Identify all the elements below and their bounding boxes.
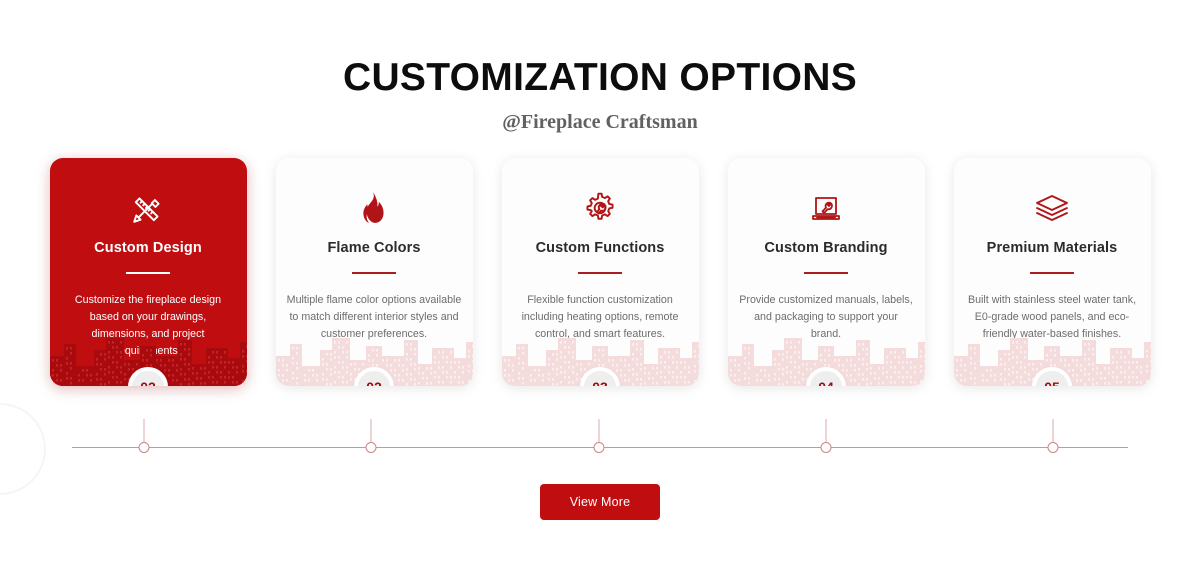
card-title: Premium Materials (987, 240, 1118, 256)
cta-container: View More (0, 484, 1200, 520)
card-list: Custom DesignCustomize the fireplace des… (0, 158, 1200, 386)
card-number-badge: 05 (1032, 367, 1072, 386)
card-divider (578, 272, 622, 274)
card-title: Custom Functions (536, 240, 665, 256)
card-number-badge: 02 (128, 367, 168, 386)
card-title: Custom Branding (764, 240, 887, 256)
timeline (0, 447, 1200, 449)
card-description: Customize the fireplace design based on … (60, 292, 236, 360)
card-description: Built with stainless steel water tank, E… (964, 292, 1140, 343)
section-header: CUSTOMIZATION OPTIONS @Fireplace Craftsm… (0, 0, 1200, 134)
card-divider (352, 272, 396, 274)
customization-options-section: CUSTOMIZATION OPTIONS @Fireplace Craftsm… (0, 0, 1200, 562)
card-divider (804, 272, 848, 274)
flame-icon (359, 188, 389, 228)
card-description: Multiple flame color options available t… (286, 292, 462, 343)
feature-card[interactable]: Custom DesignCustomize the fireplace des… (50, 158, 247, 386)
card-title: Custom Design (94, 240, 202, 256)
feature-card[interactable]: Premium MaterialsBuilt with stainless st… (954, 158, 1151, 386)
card-title: Flame Colors (327, 240, 420, 256)
card-divider (1030, 272, 1074, 274)
laptop-wrench-icon (809, 188, 843, 228)
page-subtitle: @Fireplace Craftsman (0, 111, 1200, 134)
page-title: CUSTOMIZATION OPTIONS (0, 58, 1200, 99)
view-more-button[interactable]: View More (540, 484, 661, 520)
timeline-node[interactable] (594, 442, 605, 453)
feature-card[interactable]: Flame ColorsMultiple flame color options… (276, 158, 473, 386)
feature-card[interactable]: Custom FunctionsFlexible function custom… (502, 158, 699, 386)
card-description: Flexible function customization includin… (512, 292, 688, 343)
gear-wrench-icon (583, 188, 617, 228)
card-number-badge: 02 (354, 367, 394, 386)
feature-card[interactable]: Custom BrandingProvide customized manual… (728, 158, 925, 386)
timeline-node[interactable] (366, 442, 377, 453)
card-number-badge: 03 (580, 367, 620, 386)
card-number-badge: 04 (806, 367, 846, 386)
timeline-node[interactable] (821, 442, 832, 453)
timeline-node[interactable] (1048, 442, 1059, 453)
pencil-ruler-icon (131, 188, 165, 228)
decorative-arc (0, 403, 46, 495)
card-description: Provide customized manuals, labels, and … (738, 292, 914, 343)
layers-icon (1034, 188, 1070, 228)
timeline-node[interactable] (139, 442, 150, 453)
card-divider (126, 272, 170, 274)
